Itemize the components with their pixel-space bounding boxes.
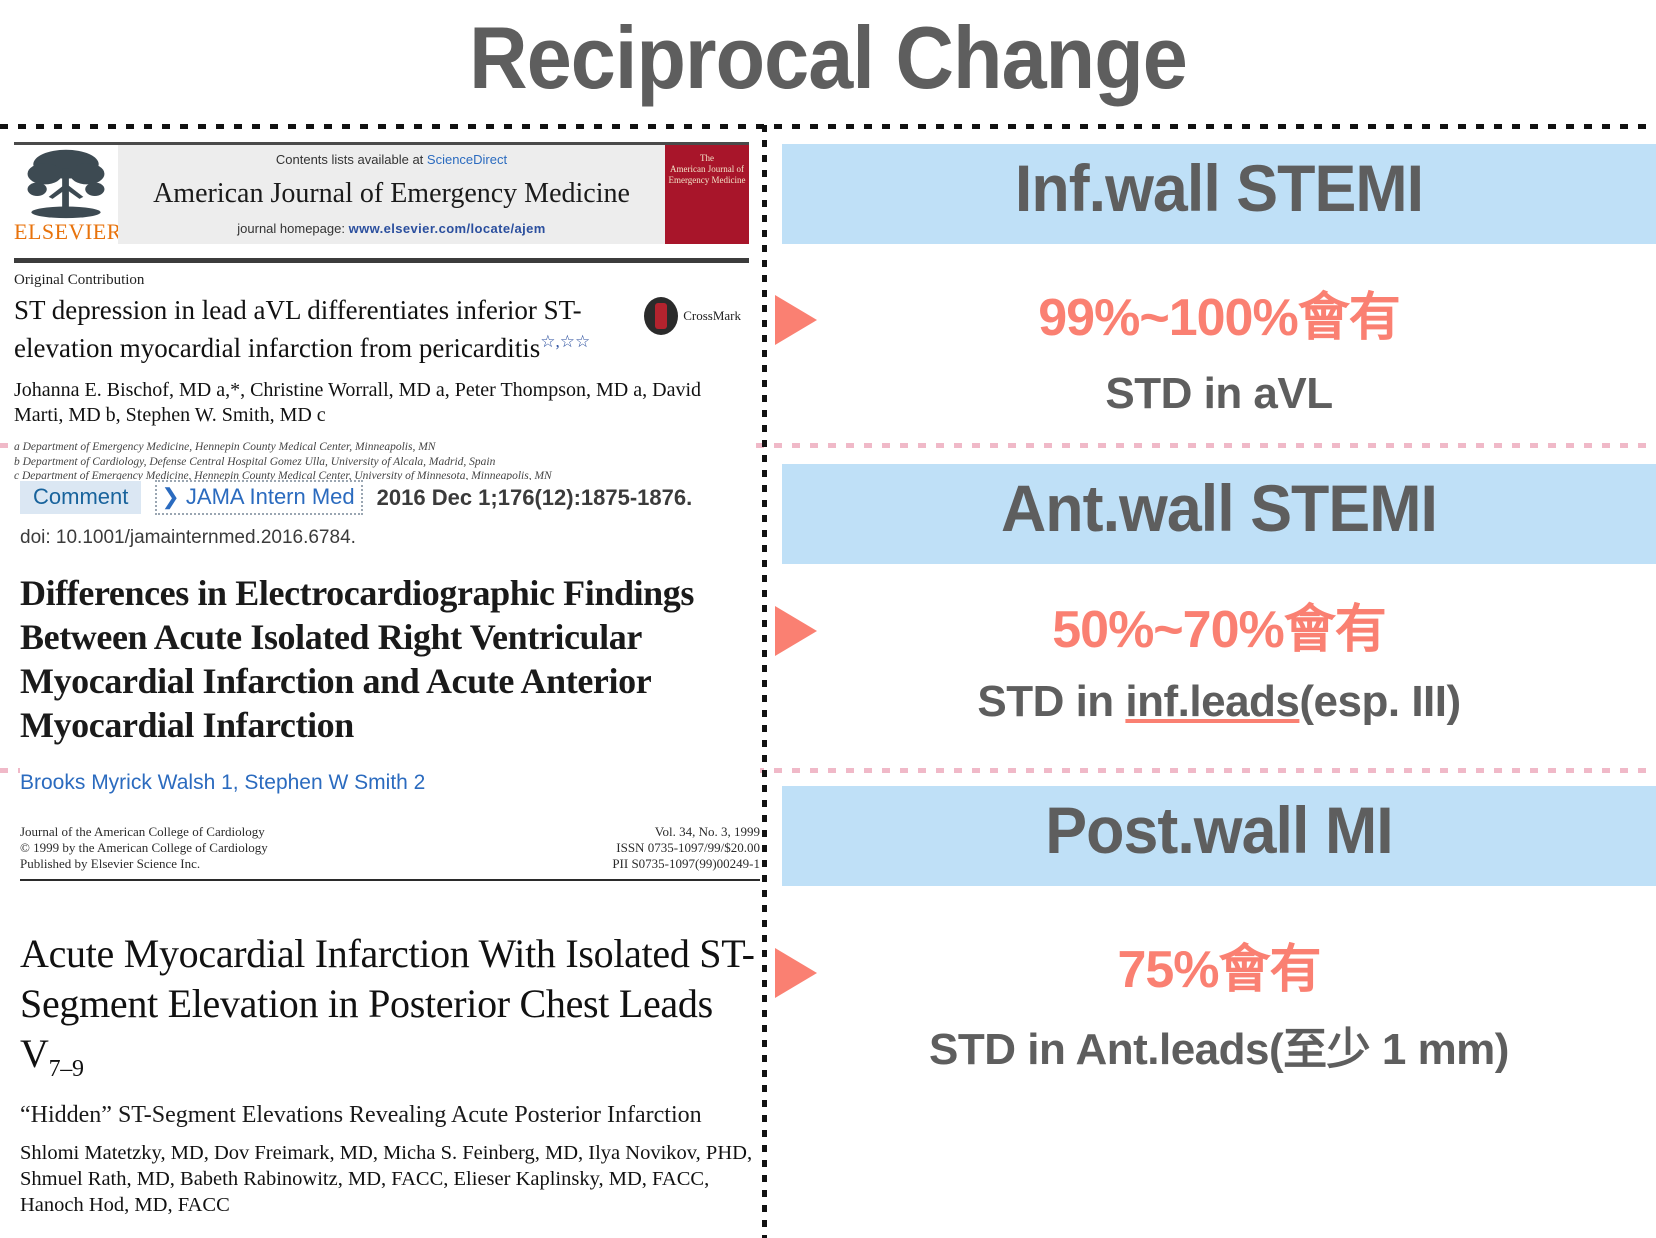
jacc-subtitle: “Hidden” ST-Segment Elevations Revealing… [20, 1100, 760, 1130]
jacc-article-title: Acute Myocardial Infarction With Isolate… [20, 929, 760, 1094]
ajem-article-block: CrossMark Original Contribution ST depre… [14, 263, 749, 484]
paper-jacc: Journal of the American College of Cardi… [20, 824, 760, 1218]
banner-ant-wall-stemi: Ant.wall STEMI [782, 464, 1656, 564]
banner-label-2: Ant.wall STEMI [804, 472, 1634, 546]
paper-ajem: ELSEVIER Contents lists available at Sci… [14, 142, 749, 484]
banner-label-1: Inf.wall STEMI [804, 152, 1634, 226]
finding-pre-1: STD in aVL [1105, 369, 1332, 418]
ajem-journal-header: ELSEVIER Contents lists available at Sci… [14, 142, 749, 244]
ajem-section-label: Original Contribution [14, 272, 749, 289]
percent-value-2: 50%~70%會有 [782, 602, 1656, 659]
jama-citation-text: 2016 Dec 1;176(12):1875-1876. [377, 485, 693, 511]
homepage-url[interactable]: www.elsevier.com/locate/ajem [349, 221, 546, 236]
jama-authors[interactable]: Brooks Myrick Walsh 1, Stephen W Smith 2 [20, 771, 760, 795]
paper-jama: Comment ❯ JAMA Intern Med 2016 Dec 1;176… [20, 480, 760, 795]
banner-inf-wall-stemi: Inf.wall STEMI [782, 144, 1656, 244]
jama-citation-line: Comment ❯ JAMA Intern Med 2016 Dec 1;176… [20, 480, 760, 515]
finding-underline-2: inf.leads [1125, 677, 1299, 726]
divider-vertical [762, 125, 767, 1238]
crossmark-label: CrossMark [683, 308, 741, 324]
jacc-title-subscript: 7–9 [49, 1056, 84, 1082]
ajem-journal-name: American Journal of Emergency Medicine [118, 178, 665, 210]
ajem-header-center: Contents lists available at ScienceDirec… [118, 145, 665, 244]
banner-label-3: Post.wall MI [804, 794, 1634, 868]
jacc-title-text: Acute Myocardial Infarction With Isolate… [20, 931, 755, 1076]
finding-text-2: STD in inf.leads(esp. III) [782, 678, 1656, 726]
sciencedirect-line: Contents lists available at ScienceDirec… [118, 152, 665, 167]
ajem-article-title: ST depression in lead aVL differentiates… [14, 295, 634, 364]
slide-root: Reciprocal Change [0, 0, 1656, 1238]
jama-doi: doi: 10.1001/jamainternmed.2016.6784. [20, 527, 760, 549]
elsevier-tree-icon [14, 145, 118, 220]
ajem-cover-thumbnail: TheAmerican Journal ofEmergency Medicine [665, 145, 749, 244]
page-title: Reciprocal Change [66, 6, 1590, 110]
banner-post-wall-mi: Post.wall MI [782, 786, 1656, 886]
finding-pre-2: STD in [977, 677, 1125, 726]
contents-prefix: Contents lists available at [276, 152, 427, 167]
ajem-homepage-line: journal homepage: www.elsevier.com/locat… [118, 221, 665, 236]
ajem-title-text: ST depression in lead aVL differentiates… [14, 295, 582, 363]
ajem-cover-title: TheAmerican Journal ofEmergency Medicine [668, 153, 745, 186]
elsevier-logo: ELSEVIER [14, 145, 118, 244]
jama-journal-link[interactable]: ❯ JAMA Intern Med [155, 480, 362, 515]
crossmark-badge[interactable]: CrossMark [644, 297, 741, 335]
finding-pre-3: STD in Ant.leads(至少 1 mm) [929, 1025, 1509, 1074]
ajem-title-marks: ☆,☆☆ [540, 332, 590, 351]
jama-article-title: Differences in Electrocardiographic Find… [20, 571, 760, 747]
elsevier-wordmark: ELSEVIER [14, 220, 118, 244]
jacc-masthead-right: Vol. 34, No. 3, 1999 ISSN 0735-1097/99/$… [612, 824, 760, 872]
ajem-authors: Johanna E. Bischof, MD a,*, Christine Wo… [14, 378, 749, 428]
homepage-prefix: journal homepage: [237, 221, 348, 236]
finding-text-1: STD in aVL [782, 370, 1656, 418]
ajem-affiliation-2: b Department of Cardiology, Defense Cent… [14, 455, 749, 470]
percent-value-1: 99%~100%會有 [782, 290, 1656, 347]
finding-text-3: STD in Ant.leads(至少 1 mm) [782, 1026, 1656, 1074]
finding-post-2: (esp. III) [1299, 677, 1460, 726]
jacc-masthead: Journal of the American College of Cardi… [20, 824, 760, 879]
jacc-authors: Shlomi Matetzky, MD, Dov Freimark, MD, M… [20, 1140, 760, 1218]
percent-value-3: 75%會有 [782, 942, 1656, 999]
jacc-masthead-left: Journal of the American College of Cardi… [20, 824, 268, 872]
jama-comment-badge: Comment [20, 481, 141, 514]
ajem-affiliation-1: a Department of Emergency Medicine, Henn… [14, 440, 749, 455]
crossmark-icon [644, 297, 678, 335]
divider-horizontal-top [0, 124, 1656, 129]
jacc-rule [20, 879, 760, 881]
sciencedirect-link[interactable]: ScienceDirect [427, 152, 507, 167]
